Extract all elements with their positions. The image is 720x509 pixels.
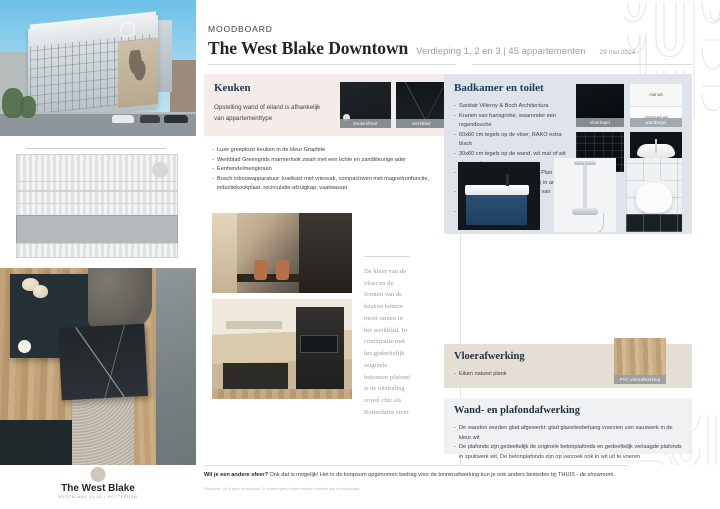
materials-flatlay-photo [0, 268, 196, 466]
blue-vanity-cabinet [466, 193, 527, 224]
swatch-vloertegel: vloertegel [576, 84, 624, 127]
wandtegel-mat-label: mat wit [630, 84, 682, 106]
bullet-item: Luxe greeploze keuken in de kleur Graphi… [212, 146, 448, 156]
bullet-item: Werkblad Greengrids marmerlook zwart met… [212, 156, 448, 166]
floor-title: Vloerafwerking [454, 351, 525, 362]
swatch-werkblad: werkblad [396, 82, 447, 128]
footer-cta-rest: Ook dat is mogelijk! Het in de koopsom o… [268, 472, 615, 478]
toilet-photo [626, 158, 682, 232]
lower-cabinets [223, 363, 287, 389]
parked-car [140, 115, 160, 123]
building-render-photo [0, 0, 196, 136]
quote-top-rule [364, 256, 410, 257]
walls-title: Wand- en plafondafwerking [454, 405, 580, 416]
street-tree [20, 96, 36, 118]
page-subtitle: Verdieping 1, 2 en 3 | 45 appartementen [416, 46, 585, 57]
bullet-item: De wanden worden glad afgewerkt: glad gl… [454, 424, 682, 443]
swatch-caption: keukenfront [340, 119, 391, 128]
brand-logo: The West Blake WESTBLAAK 31-51 | ROTTERD… [0, 465, 196, 509]
swatch-wandtegel: mat wit glanzend wit wandtegel [630, 84, 682, 127]
bar-stool [254, 260, 267, 280]
swatch-keukenfront: keukenfront [340, 82, 391, 128]
swatch-pvc-vloer: PVC vloerafwerking [614, 338, 666, 384]
left-image-column [0, 0, 196, 466]
bathroom-title: Badkamer en toilet [454, 82, 544, 94]
neighbour-building-right [170, 60, 196, 112]
page-header: MOODBOARD The West Blake Downtown Verdie… [208, 24, 620, 59]
garlic-bulbs [22, 276, 56, 300]
kitchen-window-light [212, 213, 237, 293]
moodboard-page: MOODBOARD The West Blake Downtown Verdie… [0, 0, 720, 509]
bar-stool [276, 260, 289, 280]
page-title: The West Blake Downtown [208, 38, 408, 59]
kitchen-dark-wall [299, 213, 352, 293]
kitchen-title: Keuken [214, 82, 251, 94]
bullet-item: Kranen van hansgrohe, waaronder een rege… [454, 112, 576, 131]
floor-bullet-list: Eiken naturel plank [454, 370, 634, 380]
kitchen-photo-wall-unit [212, 299, 352, 399]
built-in-oven [300, 335, 338, 353]
page-date: 29 mei 2024 [600, 49, 636, 56]
parked-car [164, 115, 188, 123]
footer-cta: Wil je een andere sfeer? Ook dat is moge… [204, 472, 615, 478]
vanity-basin-top [465, 185, 529, 195]
vanity-tap [506, 174, 509, 186]
bullet-item: Eenhendelmengkraan [212, 165, 448, 175]
kitchen-lead-text: Opstelling wand of eiland is afhankelijk… [214, 102, 324, 125]
logo-name: The West Blake [0, 483, 196, 494]
walls-bullet-list: De wanden worden glad afgewerkt: glad gl… [454, 424, 682, 462]
concrete-surface [156, 268, 196, 466]
building-elevation-drawing [0, 138, 196, 266]
swatch-caption: vloertegel [576, 118, 624, 127]
kitchen-photo-dining [212, 213, 352, 293]
shower-riser [584, 162, 587, 211]
draped-fabric [88, 268, 152, 330]
kitchen-panel: Keuken Opstelling wand of eiland is afha… [204, 74, 456, 136]
shower-hose [589, 213, 604, 232]
facade-mural [128, 49, 146, 85]
footer-divider [204, 465, 628, 466]
range-hood [226, 321, 282, 329]
shower-column-photo [554, 158, 616, 232]
toilet-bowl [636, 183, 672, 213]
content-column: MOODBOARD The West Blake Downtown Verdie… [196, 0, 720, 509]
bullet-item: 60x60 cm tegels op de vloer, RAKO extra … [454, 131, 576, 150]
swatch-caption: wandtegel [630, 118, 682, 127]
header-divider-left [208, 64, 456, 65]
elevation-band-solid [16, 215, 178, 244]
kitchen-quote: De kleur van de vloer en de fronten van … [364, 266, 412, 419]
kitchen-bullet-list: Luxe greeploze keuken in de kleur Graphi… [212, 146, 448, 194]
logo-subtitle: WESTBLAAK 31-51 | ROTTERDAM [0, 495, 196, 499]
header-divider-right [472, 64, 692, 65]
kicker-label: MOODBOARD [208, 24, 620, 34]
footer-cta-bold: Wil je een andere sfeer? [204, 472, 268, 478]
logo-circle-icon [91, 467, 106, 482]
swatch-caption: werkblad [396, 119, 447, 128]
elevation-frame [16, 148, 176, 256]
swatch-caption: PVC vloerafwerking [614, 375, 666, 384]
black-marble-sample [58, 324, 148, 400]
bullet-item: Eiken naturel plank [454, 370, 634, 380]
bullet-item: Bosch inbouwapparatuur: koelkast met vri… [212, 175, 448, 194]
basin-tap [655, 139, 658, 153]
elevation-band [16, 181, 178, 191]
bullet-item: Sanitair Villeroy & Boch Architectura [454, 102, 576, 112]
walls-panel: Wand- en plafondafwerking De wanden word… [444, 398, 692, 454]
dark-panel-sample-lower [0, 420, 72, 466]
wood-floor [212, 389, 352, 399]
bullet-item: De plafonds zijn gedeeltelijk de origine… [454, 443, 682, 462]
elevation-band [16, 243, 178, 258]
page-footer: Wil je een andere sfeer? Ook dat is moge… [196, 465, 720, 509]
bathroom-panel: Badkamer en toilet Sanitair Villeroy & B… [444, 74, 692, 234]
sample-label-dot [18, 340, 31, 353]
elevation-logo-circle [152, 162, 168, 178]
parked-car [112, 115, 134, 123]
bathroom-vanity-photo [458, 162, 540, 230]
footer-disclaimer: Disclaimer: Dit is geen verkoopstuk. Er … [204, 487, 360, 491]
